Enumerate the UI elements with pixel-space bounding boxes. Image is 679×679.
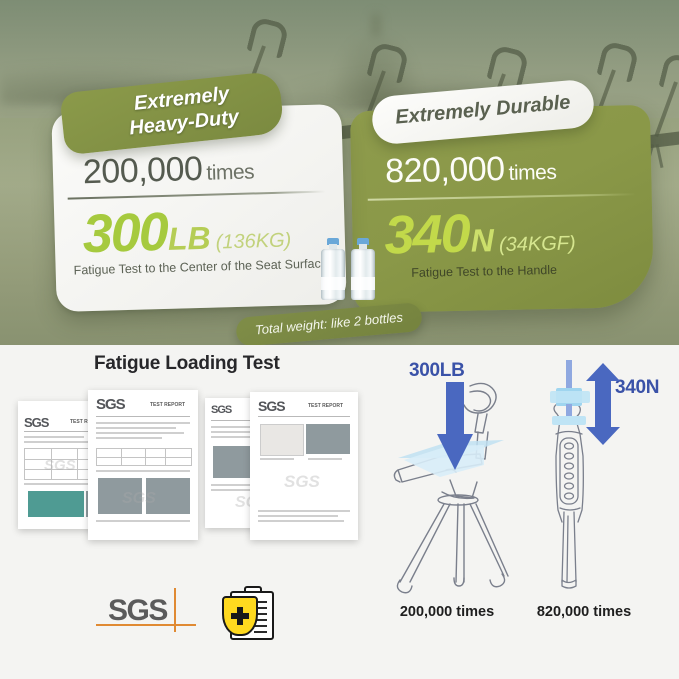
seat-cycles-caption: 200,000 times: [392, 604, 502, 620]
durability-value-unit: N: [470, 222, 494, 258]
durability-caption: Fatigue Test to the Handle: [411, 263, 557, 280]
seat-force-label: 300LB: [409, 360, 465, 382]
durability-cycles: 820,000times: [385, 149, 557, 192]
sgs-logo-text: SGS: [108, 594, 167, 628]
durability-value-metric: (34KGF): [499, 232, 576, 256]
durability-cycles-number: 820,000: [385, 150, 505, 190]
sgs-logo-accent-h: [96, 624, 196, 626]
heavy-duty-value-number: 300: [82, 202, 168, 264]
heavy-duty-cycles-unit: times: [206, 160, 254, 184]
report-subheader: TEST REPORT: [150, 402, 185, 408]
report-table: [96, 448, 192, 466]
handle-force-label: 340N: [615, 377, 659, 399]
report-subheader: TEST REPORT: [308, 403, 343, 409]
report-thumbnail[interactable]: SGS TEST REPORT SGS: [88, 390, 198, 540]
water-bottles-group: [321, 230, 383, 302]
report-watermark: SGS: [284, 472, 320, 492]
section-title: Fatigue Loading Test: [94, 353, 280, 375]
heavy-duty-value: 300LB(136KG): [82, 197, 292, 265]
durability-value: 340N(34KGF): [384, 200, 576, 266]
arrow-down-icon: [437, 382, 473, 470]
water-bottle: [321, 238, 345, 300]
report-logo: SGS: [258, 398, 285, 414]
arrow-up-down-icon: [586, 363, 620, 445]
quality-certified-icon: [222, 586, 276, 638]
durability-value-number: 340: [384, 204, 469, 266]
heavy-duty-cycles-number: 200,000: [82, 150, 202, 191]
report-watermark: SGS: [44, 457, 76, 474]
water-bottle: [351, 238, 375, 300]
heavy-duty-value-metric: (136KG): [215, 229, 291, 253]
sgs-logo: SGS: [108, 592, 184, 632]
report-logo: SGS: [211, 404, 231, 416]
durability-divider: [368, 193, 636, 201]
heavy-duty-value-unit: LB: [167, 220, 211, 257]
shield-icon: [222, 596, 258, 636]
heavy-duty-cycles: 200,000times: [82, 146, 333, 192]
durability-cycles-unit: times: [508, 161, 556, 185]
report-logo: SGS: [96, 396, 125, 413]
product-infographic: 820,000times 340N(34KGF) Fatigue Test to…: [0, 0, 679, 679]
report-thumbnail[interactable]: SGS TEST REPORT SGS: [250, 392, 358, 540]
handle-cycles-caption: 820,000 times: [528, 604, 640, 620]
heavy-duty-ribbon-label: Extremely Heavy-Duty: [86, 77, 280, 145]
report-watermark: SGS: [122, 490, 156, 508]
durability-ribbon-label: Extremely Durable: [371, 89, 594, 131]
report-logo: SGS: [24, 415, 48, 430]
